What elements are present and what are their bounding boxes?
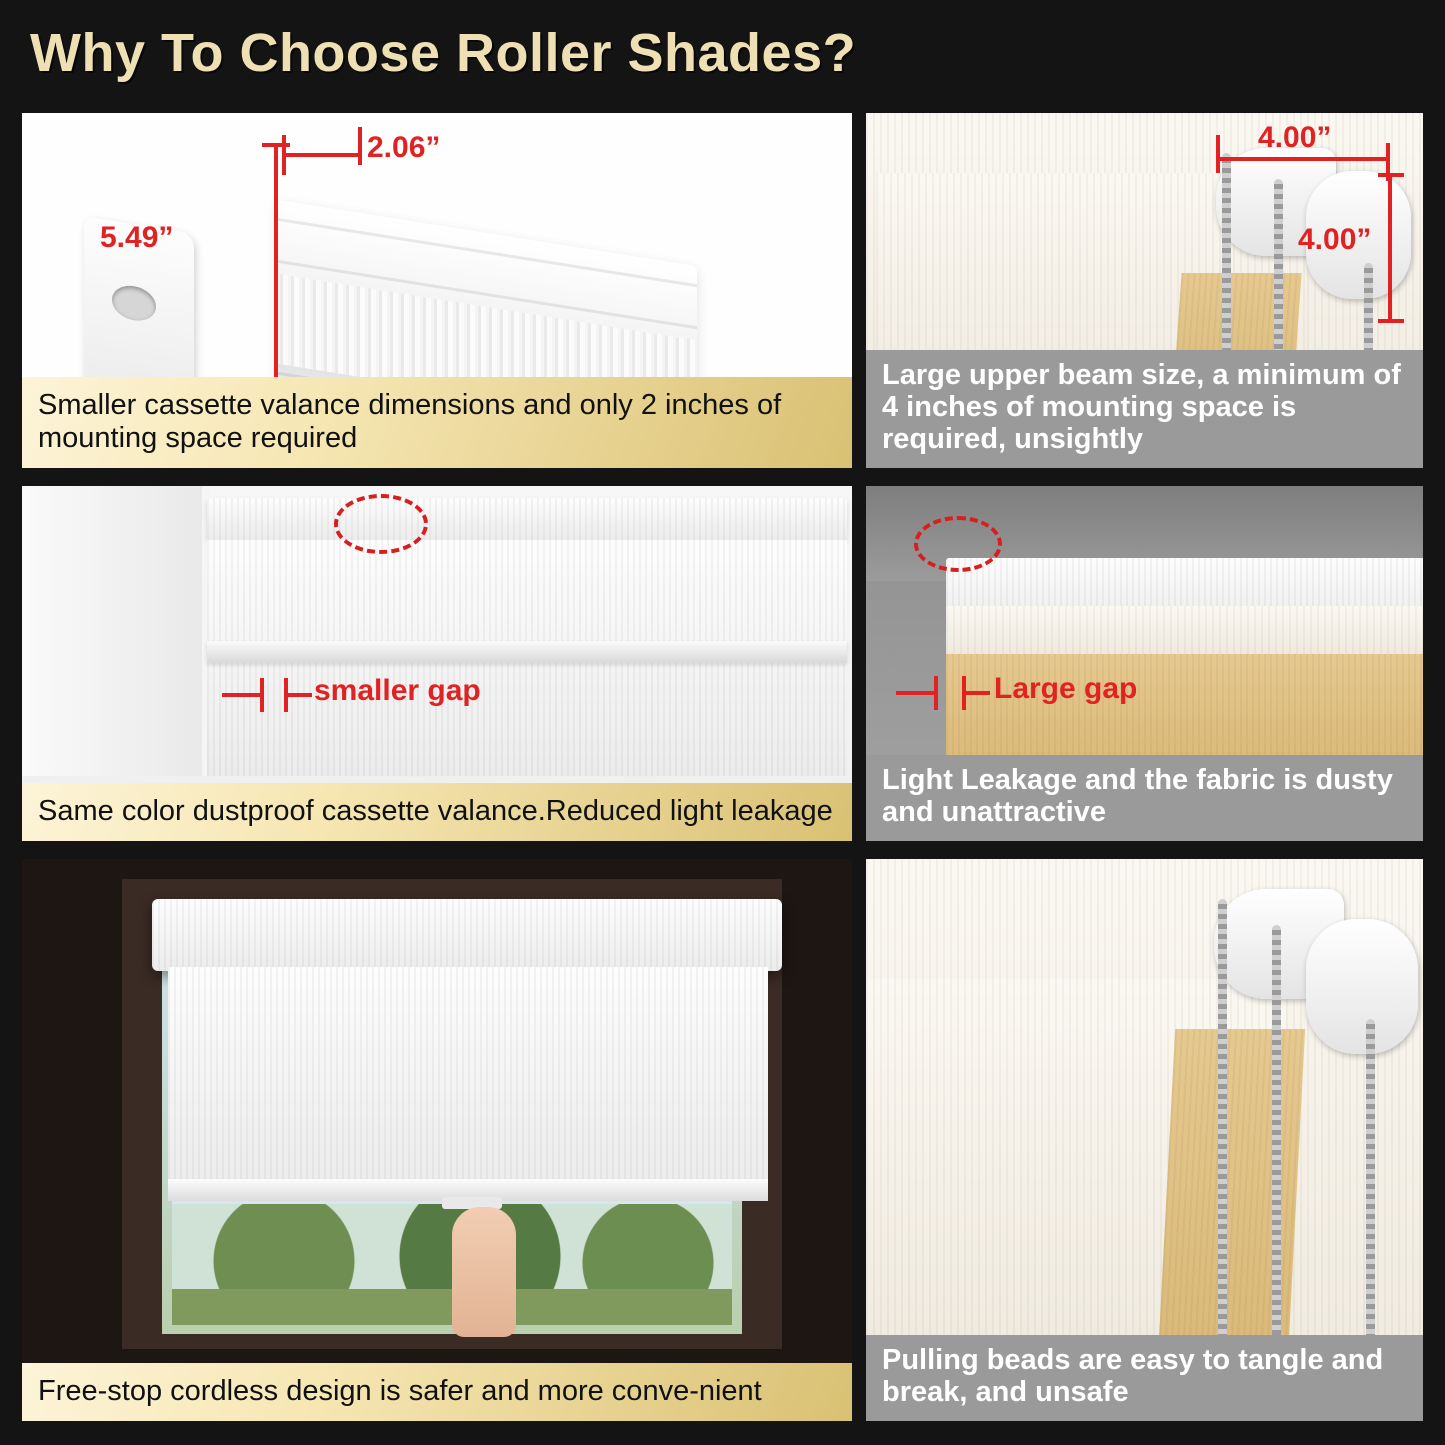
hand — [452, 1207, 516, 1337]
shade-fabric-upper — [946, 606, 1423, 656]
shade-fabric — [168, 967, 768, 1185]
infographic-page: Why To Choose Roller Shades? 2.06” 5 — [0, 0, 1445, 1445]
panel-cordless-design: Free-stop cordless design is safer and m… — [22, 859, 852, 1421]
panel-pulling-beads: Pulling beads are easy to tangle and bre… — [866, 859, 1423, 1421]
bracket-hole-icon — [112, 283, 156, 324]
panel-5-photo — [22, 859, 852, 1421]
height-dim-cap-top — [262, 143, 290, 147]
gap-arrow-left — [222, 693, 262, 697]
panel-1-caption: Smaller cassette valance dimensions and … — [22, 377, 852, 468]
beam-depth-line — [1388, 173, 1392, 323]
gap-arrow-right — [962, 691, 990, 695]
gap-highlight-circle — [914, 516, 1002, 572]
gap-highlight-circle — [334, 494, 428, 554]
bead-chain-right — [1366, 1019, 1375, 1359]
gap-arrow-right — [284, 693, 312, 697]
page-title: Why To Choose Roller Shades? — [30, 22, 856, 84]
panel-2-caption: Large upper beam size, a minimum of 4 in… — [866, 350, 1423, 468]
cassette-valance-head — [207, 498, 847, 540]
gap-arrow-left — [896, 691, 936, 695]
gap-label: Large gap — [994, 672, 1137, 706]
height-dimension-label: 5.49” — [100, 221, 173, 255]
bottom-rail — [207, 641, 847, 663]
panel-3-caption: Same color dustproof cassette valance.Re… — [22, 783, 852, 841]
beam-depth-label: 4.00” — [1298, 223, 1371, 257]
beam-depth-cap-bottom — [1378, 319, 1404, 323]
beam-width-tick-left — [1216, 135, 1220, 173]
bead-chain-middle — [1272, 925, 1281, 1345]
cassette-valance-head — [152, 899, 782, 971]
beam-depth-cap-top — [1378, 173, 1404, 177]
panel-5-caption: Free-stop cordless design is safer and m… — [22, 1363, 852, 1421]
window-frame — [22, 486, 210, 776]
panel-6-caption: Pulling beads are easy to tangle and bre… — [866, 1335, 1423, 1421]
bead-chain-left — [1218, 899, 1227, 1339]
gap-label: smaller gap — [314, 674, 481, 708]
panel-smaller-gap: smaller gap Same color dustproof cassett… — [22, 486, 852, 841]
beam-width-label: 4.00” — [1258, 121, 1331, 155]
panel-large-beam: 4.00” 4.00” Large upper beam size, a min… — [866, 113, 1423, 468]
width-dimension-label: 2.06” — [367, 131, 440, 165]
panel-4-caption: Light Leakage and the fabric is dusty an… — [866, 755, 1423, 841]
panel-large-gap: Large gap Light Leakage and the fabric i… — [866, 486, 1423, 841]
width-dim-tick-right — [358, 127, 362, 165]
beam-width-arrow — [1216, 157, 1388, 161]
width-dim-arrow — [282, 153, 360, 157]
tan-fabric-strip — [1157, 1029, 1305, 1379]
roller-head-right — [1306, 919, 1418, 1054]
panel-cassette-dimensions: 2.06” 5.49” Smaller cassette valance dim… — [22, 113, 852, 468]
